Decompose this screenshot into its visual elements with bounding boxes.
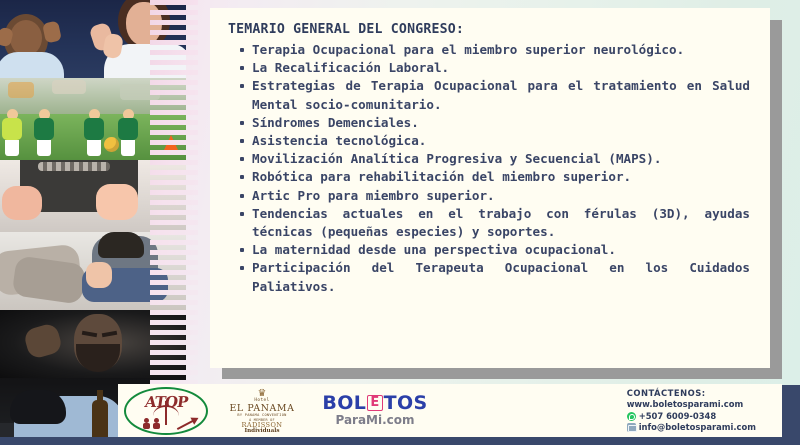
list-item: Movilización Analítica Progresiva y Secu…: [238, 150, 750, 168]
footer-bar: ATOP ♛ Hotel EL PANAMA BY PANAMA CONVENT…: [118, 384, 782, 437]
hotel-label-line6: Individuals: [214, 429, 310, 435]
whatsapp-icon: [627, 412, 636, 421]
list-item: La maternidad desde una perspectiva ocup…: [238, 241, 750, 259]
contact-website-row[interactable]: www.boletosparami.com: [627, 399, 756, 410]
person-icon: [152, 418, 161, 429]
list-item: Artic Pro para miembro superior.: [238, 187, 750, 205]
bottom-navy-band: [0, 437, 800, 445]
arrow-icon: [177, 417, 197, 429]
person-icon: [142, 418, 151, 429]
topics-card: TEMARIO GENERAL DEL CONGRESO: Terapia Oc…: [210, 8, 770, 368]
boletos-text-part2: TOS: [384, 394, 428, 413]
email-icon: [627, 423, 636, 432]
page-title: TEMARIO GENERAL DEL CONGRESO:: [228, 22, 752, 37]
list-item: Tendencias actuales en el trabajo con fé…: [238, 205, 750, 241]
boletos-parami-logo[interactable]: BOL E TOS ParaMi.com: [310, 384, 440, 437]
congress-poster: TEMARIO GENERAL DEL CONGRESO: Terapia Oc…: [0, 0, 800, 445]
list-item: Síndromes Demenciales.: [238, 114, 750, 132]
website-text: www.boletosparami.com: [627, 399, 744, 410]
topics-list: Terapia Ocupacional para el miembro supe…: [224, 41, 752, 296]
crown-icon: ♛: [214, 386, 310, 399]
list-item: Asistencia tecnológica.: [238, 132, 750, 150]
email-text: info@boletosparami.com: [639, 422, 756, 433]
contact-email-row[interactable]: info@boletosparami.com: [627, 422, 756, 433]
card-bottom-bar: [222, 368, 782, 379]
boletos-text-part1: BOL: [322, 394, 366, 413]
list-item: Participación del Terapeuta Ocupacional …: [238, 259, 750, 295]
list-item: Robótica para rehabilitación del miembro…: [238, 168, 750, 186]
hotel-el-panama-logo: ♛ Hotel EL PANAMA BY PANAMA CONVENTION A…: [214, 384, 310, 437]
phone-text: +507 6009-0348: [639, 411, 717, 422]
list-item: La Recalificación Laboral.: [238, 59, 750, 77]
dotcom-text: .com: [382, 413, 414, 427]
parami-text: ParaMi: [335, 413, 382, 427]
contact-heading: CONTÁCTENOS:: [627, 388, 756, 399]
contact-block: CONTÁCTENOS: www.boletosparami.com +507 …: [627, 388, 782, 433]
contact-phone-row[interactable]: +507 6009-0348: [627, 411, 756, 422]
list-item: Estrategias de Terapia Ocupacional para …: [238, 77, 750, 113]
atop-logo: ATOP: [118, 384, 214, 437]
torn-paper-edge: [150, 0, 198, 445]
ticket-icon: E: [367, 395, 382, 411]
list-item: Terapia Ocupacional para el miembro supe…: [238, 41, 750, 59]
